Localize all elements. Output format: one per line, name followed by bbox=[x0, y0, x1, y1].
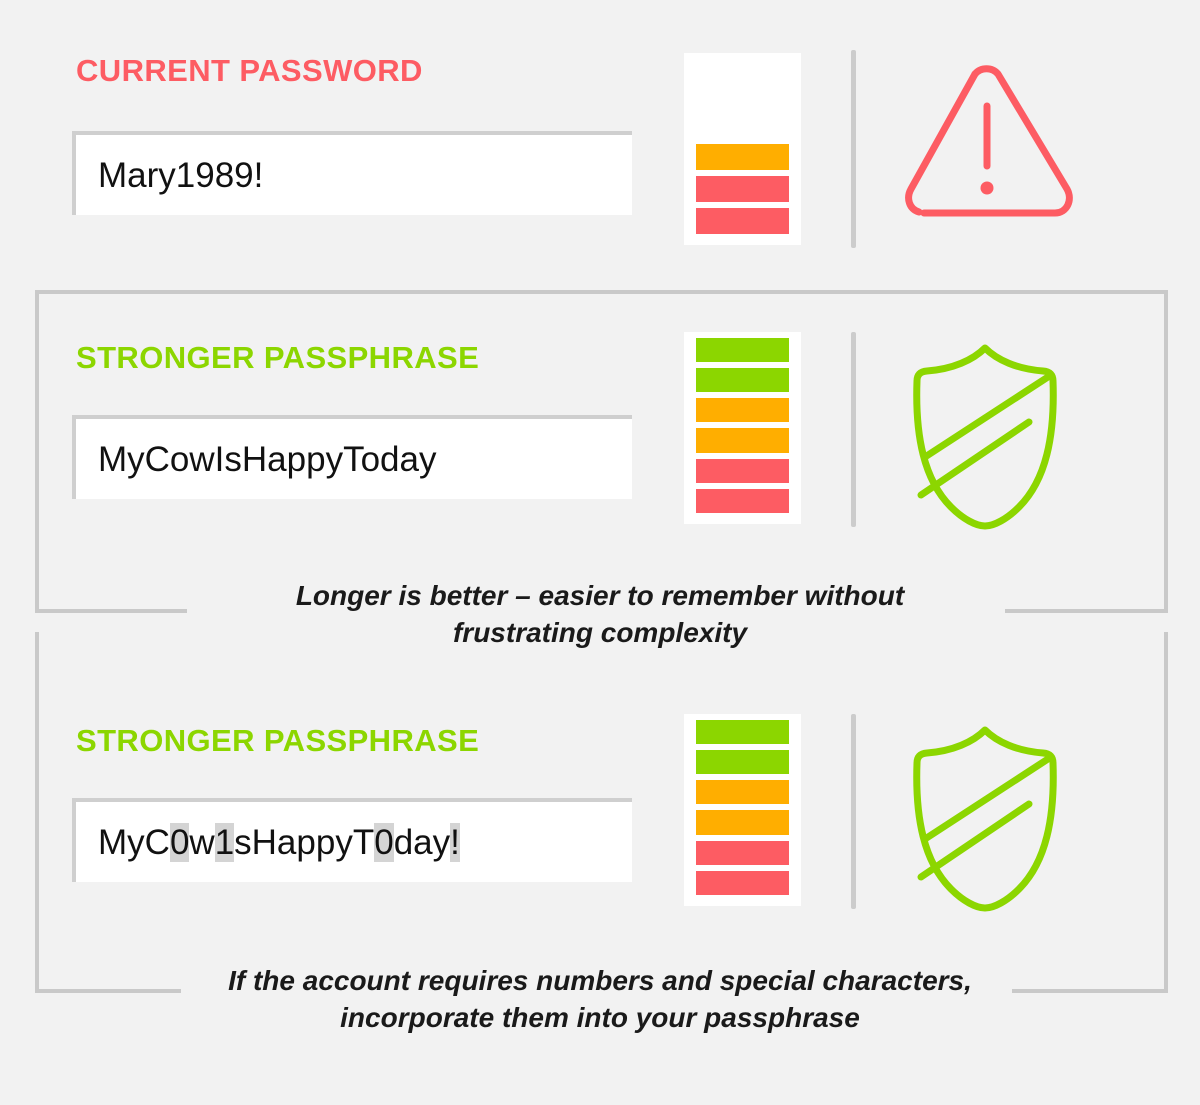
substituted-char: 1 bbox=[215, 823, 234, 862]
strength-bar bbox=[696, 208, 789, 234]
panel-stronger-passphrase-1: STRONGER PASSPHRASE MyCowIsHappyToday Lo… bbox=[0, 290, 1200, 650]
shield-icon bbox=[903, 722, 1068, 912]
strength-bar bbox=[696, 489, 789, 513]
strength-bar bbox=[696, 841, 789, 865]
shield-icon bbox=[903, 340, 1068, 530]
substituted-char: ! bbox=[450, 823, 460, 862]
vertical-divider bbox=[851, 332, 856, 527]
strength-bar bbox=[696, 750, 789, 774]
strength-bar bbox=[696, 398, 789, 422]
substituted-char: 0 bbox=[170, 823, 189, 862]
password-field-current[interactable]: Mary1989! bbox=[72, 131, 632, 215]
caption-passphrase-2: If the account requires numbers and spec… bbox=[190, 963, 1010, 1037]
strength-bar bbox=[696, 368, 789, 392]
warning-triangle-icon bbox=[895, 58, 1080, 238]
infographic-canvas: CURRENT PASSWORD Mary1989! bbox=[0, 0, 1200, 1105]
strength-bar bbox=[696, 176, 789, 202]
password-field-passphrase-1[interactable]: MyCowIsHappyToday bbox=[72, 415, 632, 499]
panel-label-stronger-passphrase-1: STRONGER PASSPHRASE bbox=[76, 342, 479, 373]
strength-meter-current bbox=[684, 53, 801, 245]
strength-bar bbox=[696, 720, 789, 744]
strength-meter-passphrase-2 bbox=[684, 714, 801, 906]
strength-bar bbox=[696, 459, 789, 483]
strength-meter-passphrase-1 bbox=[684, 332, 801, 524]
vertical-divider bbox=[851, 714, 856, 909]
strength-bar bbox=[696, 871, 789, 895]
strength-bar bbox=[696, 780, 789, 804]
password-value-passphrase-2: MyC0w1sHappyT0day! bbox=[76, 825, 460, 860]
panel-label-stronger-passphrase-2: STRONGER PASSPHRASE bbox=[76, 725, 479, 756]
substituted-char: 0 bbox=[374, 823, 393, 862]
strength-bar bbox=[696, 810, 789, 834]
panel-label-current-password: CURRENT PASSWORD bbox=[76, 55, 423, 86]
vertical-divider bbox=[851, 50, 856, 248]
panel-stronger-passphrase-2: STRONGER PASSPHRASE MyC0w1sHappyT0day! I… bbox=[0, 632, 1200, 1052]
password-field-passphrase-2[interactable]: MyC0w1sHappyT0day! bbox=[72, 798, 632, 882]
strength-bar bbox=[696, 144, 789, 170]
password-value-current: Mary1989! bbox=[76, 158, 263, 193]
strength-bar bbox=[696, 338, 789, 362]
strength-bar bbox=[696, 428, 789, 452]
panel-current-password: CURRENT PASSWORD Mary1989! bbox=[0, 0, 1200, 275]
password-value-passphrase-1: MyCowIsHappyToday bbox=[76, 442, 436, 477]
